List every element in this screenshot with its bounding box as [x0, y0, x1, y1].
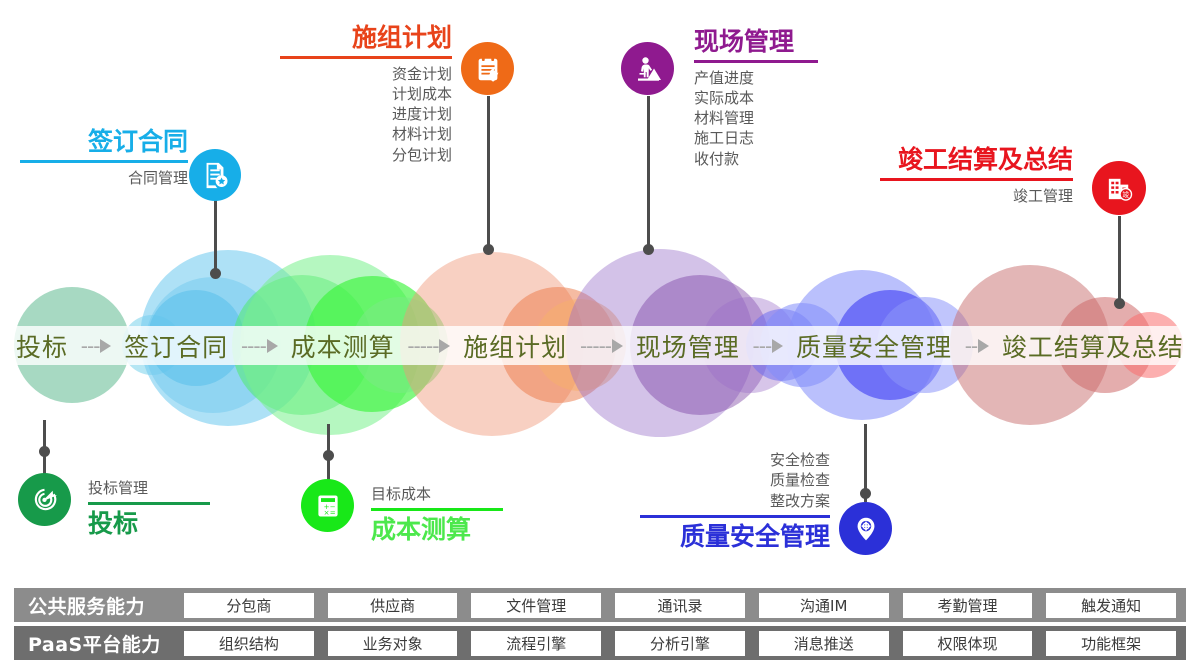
callout-contract: 签订合同 合同管理 — [20, 128, 188, 188]
arrow-triangle-icon — [267, 339, 278, 353]
flow-stage-cost[interactable]: 成本测算 — [291, 328, 395, 364]
capability-row-paas: PaaS平台能力 组织结构 业务对象 流程引擎 分析引擎 消息推送 权限体现 功… — [14, 626, 1186, 660]
clipboard-wrench-icon[interactable] — [461, 42, 514, 95]
arrow-triangle-icon — [100, 339, 111, 353]
target-arrow-icon[interactable] — [18, 473, 71, 526]
flow-arrow-3: ----- — [407, 336, 450, 356]
svg-text:=: = — [329, 508, 335, 516]
capability-row-public-service: 公共服务能力 分包商 供应商 文件管理 通讯录 沟通IM 考勤管理 触发通知 — [14, 588, 1186, 622]
capability-cell[interactable]: 触发通知 — [1046, 593, 1176, 618]
arrow-triangle-icon — [612, 339, 623, 353]
capability-cell[interactable]: 权限体现 — [903, 631, 1033, 656]
capability-cell[interactable]: 消息推送 — [759, 631, 889, 656]
callout-quality-title: 质量安全管理 — [640, 523, 830, 551]
flow-stage-completion[interactable]: 竣工结算及总结 — [1002, 328, 1184, 364]
stem-knob-bidding — [39, 446, 50, 457]
arrow-triangle-icon — [439, 339, 450, 353]
callout-plan-item-4: 分包计划 — [280, 145, 452, 165]
stem-site — [647, 96, 650, 252]
callout-bidding-rule — [88, 502, 210, 505]
capability-table: 公共服务能力 分包商 供应商 文件管理 通讯录 沟通IM 考勤管理 触发通知 P… — [14, 588, 1186, 664]
flow-stage-plan[interactable]: 施组计划 — [463, 328, 567, 364]
svg-text:×: × — [323, 508, 329, 516]
callout-contract-title: 签订合同 — [20, 128, 188, 156]
callout-plan-rule — [280, 56, 452, 59]
callout-plan-item-2: 进度计划 — [280, 104, 452, 124]
location-pin-icon[interactable] — [839, 502, 892, 555]
flow-arrow-4: ----- — [580, 336, 623, 356]
flow-stage-site[interactable]: 现场管理 — [636, 328, 740, 364]
calculator-icon[interactable]: + − × = — [301, 479, 354, 532]
callout-site-item-3: 施工日志 — [694, 128, 884, 148]
callout-plan-item-0: 资金计划 — [280, 64, 452, 84]
callout-bidding-title: 投标 — [88, 510, 218, 538]
capability-cell[interactable]: 流程引擎 — [471, 631, 601, 656]
svg-text:竣: 竣 — [1122, 189, 1129, 198]
callout-cost: 目标成本 成本测算 — [371, 484, 521, 544]
capability-cell[interactable]: 组织结构 — [184, 631, 314, 656]
capability-cell[interactable]: 沟通IM — [759, 593, 889, 618]
stem-knob-completion — [1114, 298, 1125, 309]
worker-icon[interactable] — [621, 42, 674, 95]
capability-cell[interactable]: 供应商 — [328, 593, 458, 618]
arrow-triangle-icon — [772, 339, 783, 353]
callout-plan-title: 施组计划 — [280, 24, 452, 52]
callout-bidding-item-0: 投标管理 — [88, 478, 218, 498]
capability-cell[interactable]: 功能框架 — [1046, 631, 1176, 656]
callout-contract-item-0: 合同管理 — [20, 168, 188, 188]
flow-arrow-5: --- — [753, 336, 784, 356]
flow-stage-contract[interactable]: 签订合同 — [124, 328, 228, 364]
callout-completion-item-0: 竣工管理 — [880, 186, 1073, 206]
stem-knob-quality — [860, 488, 871, 499]
callout-cost-item-0: 目标成本 — [371, 484, 521, 504]
callout-plan-item-3: 材料计划 — [280, 124, 452, 144]
stem-knob-contract — [210, 268, 221, 279]
callout-completion-title: 竣工结算及总结 — [880, 146, 1073, 174]
callout-contract-rule — [20, 160, 188, 163]
callout-bidding: 投标管理 投标 — [88, 478, 218, 538]
capability-row-label: PaaS平台能力 — [14, 626, 174, 660]
callout-site-title: 现场管理 — [694, 28, 884, 56]
capability-cell[interactable]: 业务对象 — [328, 631, 458, 656]
flow-stage-quality[interactable]: 质量安全管理 — [796, 328, 952, 364]
callout-cost-rule — [371, 508, 503, 511]
capability-cell[interactable]: 考勤管理 — [903, 593, 1033, 618]
stem-plan — [487, 96, 490, 252]
callout-site-item-0: 产值进度 — [694, 68, 884, 88]
callout-cost-title: 成本测算 — [371, 516, 521, 544]
building-badge-icon[interactable]: 竣 — [1092, 161, 1146, 215]
stem-contract — [214, 196, 217, 276]
flow-arrow-2: ---- — [241, 336, 278, 356]
callout-site: 现场管理 产值进度 实际成本 材料管理 施工日志 收付款 — [694, 28, 884, 169]
callout-quality-item-2: 整改方案 — [640, 491, 830, 511]
capability-cell[interactable]: 文件管理 — [471, 593, 601, 618]
flow-stage-bidding[interactable]: 投标 — [16, 328, 68, 364]
capability-cell[interactable]: 通讯录 — [615, 593, 745, 618]
callout-completion-rule — [880, 178, 1073, 181]
callout-site-item-1: 实际成本 — [694, 88, 884, 108]
callout-site-item-4: 收付款 — [694, 149, 884, 169]
capability-row-label: 公共服务能力 — [14, 588, 174, 622]
arrow-triangle-icon — [978, 339, 989, 353]
infographic-canvas: 投标 --- 签订合同 ---- 成本测算 ----- 施组计划 ----- 现… — [0, 0, 1200, 666]
process-flow-band: 投标 --- 签订合同 ---- 成本测算 ----- 施组计划 ----- 现… — [0, 326, 1200, 365]
flow-arrow-1: --- — [81, 336, 112, 356]
callout-quality-item-1: 质量检查 — [640, 470, 830, 490]
contract-document-icon[interactable] — [189, 149, 241, 201]
callout-quality: 安全检查 质量检查 整改方案 质量安全管理 — [640, 450, 830, 550]
callout-plan: 施组计划 资金计划 计划成本 进度计划 材料计划 分包计划 — [280, 24, 452, 165]
stem-completion — [1118, 216, 1121, 306]
callout-site-item-2: 材料管理 — [694, 108, 884, 128]
flow-arrow-6: -- — [965, 336, 989, 356]
callout-completion: 竣工结算及总结 竣工管理 — [880, 146, 1073, 206]
callout-quality-rule — [640, 515, 830, 518]
capability-cell[interactable]: 分析引擎 — [615, 631, 745, 656]
callout-quality-item-0: 安全检查 — [640, 450, 830, 470]
stem-knob-plan — [483, 244, 494, 255]
stem-knob-cost — [323, 450, 334, 461]
stem-knob-site — [643, 244, 654, 255]
capability-cell[interactable]: 分包商 — [184, 593, 314, 618]
callout-site-rule — [694, 60, 818, 63]
callout-plan-item-1: 计划成本 — [280, 84, 452, 104]
